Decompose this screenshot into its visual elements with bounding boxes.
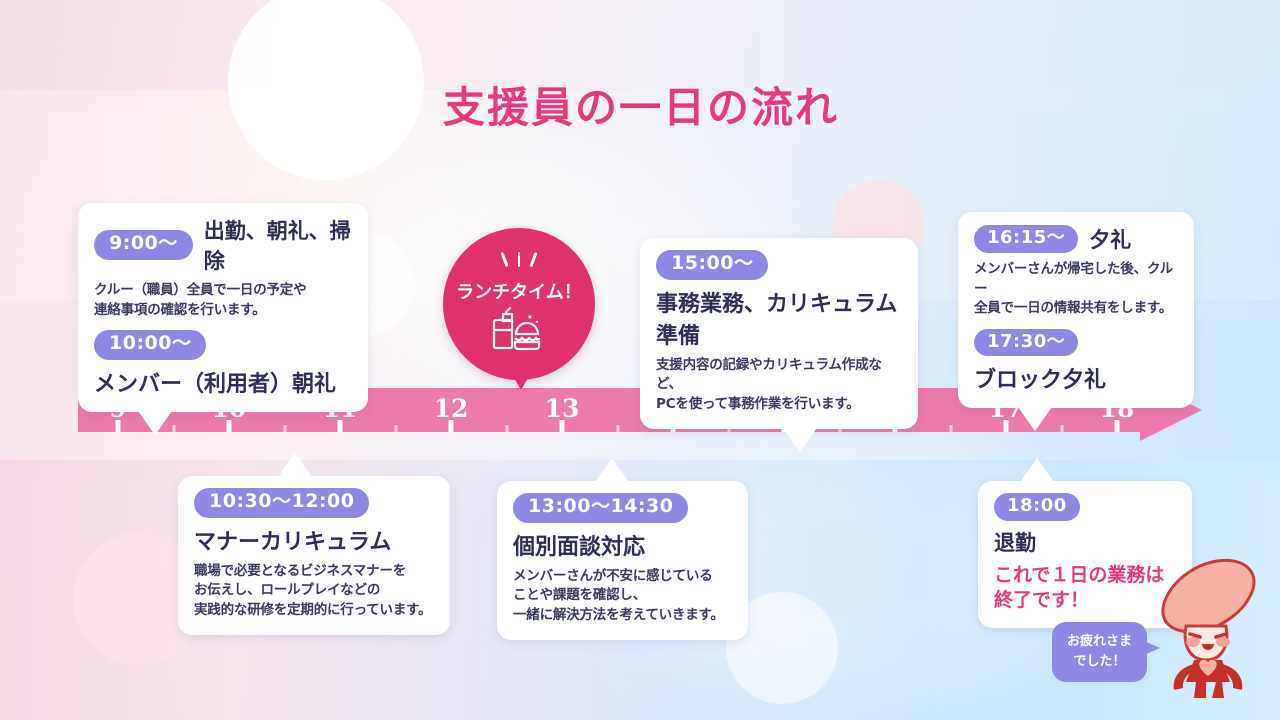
card-morning-second-entry: 10:00〜 メンバー（利用者）朝礼	[94, 330, 352, 398]
timeline-tick-minor	[283, 425, 286, 432]
card-evening-meeting[interactable]: 16:15〜 夕礼 メンバーさんが帰宅した後、クルー 全員で一日の情報共有をしま…	[958, 212, 1194, 408]
card-morning-subtitle: メンバー（利用者）朝礼	[94, 366, 352, 398]
card-interview-description: メンバーさんが不安に感じている ことや課題を確認し、 一緒に解決方法を考えていき…	[513, 567, 732, 626]
timeline-tick-major	[560, 420, 565, 432]
card-manner-description: 職場で必要となるビジネスマナーを お伝えし、ロールプレイなどの 実践的な研修を定…	[194, 562, 434, 621]
card-evening-pointer	[1018, 407, 1052, 431]
card-leave-title: 退勤	[994, 527, 1176, 557]
decorative-circle-large-white	[228, 0, 424, 180]
card-office-pointer	[783, 428, 817, 452]
time-badge-1730: 17:30〜	[974, 329, 1078, 357]
card-morning-description: クルー（職員）全員で一日の予定や 連絡事項の確認を行います。	[94, 281, 352, 320]
timeline-tick-major	[227, 420, 232, 432]
timeline-tick-minor	[394, 425, 397, 432]
timeline-tick-minor	[1171, 425, 1174, 432]
timeline-tick-major	[116, 420, 121, 432]
timeline-tick-minor	[949, 425, 952, 432]
card-manner-desc-line2: お伝えし、ロールプレイなどの	[194, 581, 434, 601]
card-interview-pointer	[595, 458, 629, 482]
lunch-food-icon	[443, 306, 595, 358]
card-evening-title: 夕礼	[1089, 224, 1131, 254]
timeline-tick-minor	[172, 425, 175, 432]
card-interview-desc-line2: ことや課題を確認し、	[513, 586, 732, 606]
timeline-tick-minor	[616, 425, 619, 432]
card-morning-pointer	[138, 411, 172, 435]
timeline-tick-major	[1004, 420, 1009, 432]
time-badge-1500: 15:00〜	[656, 250, 768, 280]
card-manner-desc-line3: 実践的な研修を定期的に行っています。	[194, 601, 434, 621]
timeline-tick-major	[1115, 420, 1120, 432]
card-interview-title: 個別面談対応	[513, 529, 732, 561]
time-badge-1800: 18:00	[994, 493, 1080, 521]
card-evening-subtitle: ブロック夕礼	[974, 362, 1178, 394]
card-interview-desc-line1: メンバーさんが不安に感じている	[513, 567, 732, 587]
timeline-tick-major	[449, 420, 454, 432]
lunch-bubble[interactable]: ランチタイム！	[443, 228, 595, 380]
time-badge-1000: 10:00〜	[94, 330, 206, 360]
card-individual-interview[interactable]: 13:00〜14:30 個別面談対応 メンバーさんが不安に感じている ことや課題…	[497, 481, 748, 640]
card-office-work[interactable]: 15:00〜 事務業務、カリキュラム準備 支援内容の記録やカリキュラム作成など、…	[640, 238, 918, 429]
timeline-tick-major	[338, 420, 343, 432]
card-morning[interactable]: 9:00〜 出勤、朝礼、掃除 クルー（職員）全員で一日の予定や 連絡事項の確認を…	[78, 203, 368, 412]
time-badge-0900: 9:00〜	[94, 230, 193, 260]
card-interview-desc-line3: 一緒に解決方法を考えていきます。	[513, 606, 732, 626]
mascot-speech-line2: でした！	[1052, 652, 1147, 672]
card-office-description: 支援内容の記録やカリキュラム作成など、 PCを使って事務作業を行います。	[656, 356, 902, 415]
card-evening-desc-line2: 全員で一日の情報共有をします。	[974, 299, 1178, 319]
mascot-character	[1148, 556, 1268, 706]
card-evening-second-entry: 17:30〜 ブロック夕礼	[974, 329, 1178, 395]
timeline-tick-minor	[505, 425, 508, 432]
timeline-hour-label: 12	[434, 394, 469, 423]
card-office-desc-line2: PCを使って事務作業を行います。	[656, 395, 902, 415]
card-manner-pointer	[278, 453, 312, 477]
card-manner-title: マナーカリキュラム	[194, 524, 434, 556]
card-morning-desc-line1: クルー（職員）全員で一日の予定や	[94, 281, 352, 301]
card-manner-desc-line1: 職場で必要となるビジネスマナーを	[194, 562, 434, 582]
card-office-title: 事務業務、カリキュラム準備	[656, 286, 902, 350]
lunch-bubble-pointer	[507, 366, 535, 390]
mascot-speech-text: お疲れさま でした！	[1052, 632, 1147, 671]
sparkle-icon	[443, 252, 595, 271]
mascot-speech-line1: お疲れさま	[1052, 632, 1147, 652]
card-morning-desc-line2: 連絡事項の確認を行います。	[94, 301, 352, 321]
lunch-label: ランチタイム！	[443, 278, 595, 304]
card-manner-curriculum[interactable]: 10:30〜12:00 マナーカリキュラム 職場で必要となるビジネスマナーを お…	[178, 476, 450, 635]
card-leave-pointer	[1020, 458, 1054, 482]
card-evening-header: 16:15〜 夕礼	[974, 224, 1178, 254]
page-title: 支援員の一日の流れ	[443, 74, 839, 135]
timeline-tick-minor	[1060, 425, 1063, 432]
card-office-desc-line1: 支援内容の記録やカリキュラム作成など、	[656, 356, 902, 395]
timeline-hour-label: 13	[545, 394, 580, 423]
time-badge-1615: 16:15〜	[974, 225, 1078, 253]
time-badge-1030-1200: 10:30〜12:00	[194, 488, 369, 518]
mascot-speech-bubble: お疲れさま でした！	[1052, 622, 1147, 682]
card-evening-description: メンバーさんが帰宅した後、クルー 全員で一日の情報共有をします。	[974, 260, 1178, 319]
card-morning-header: 9:00〜 出勤、朝礼、掃除	[94, 215, 352, 275]
card-evening-desc-line1: メンバーさんが帰宅した後、クルー	[974, 260, 1178, 299]
card-morning-title: 出勤、朝礼、掃除	[204, 215, 352, 275]
time-badge-1300-1430: 13:00〜14:30	[513, 493, 688, 523]
